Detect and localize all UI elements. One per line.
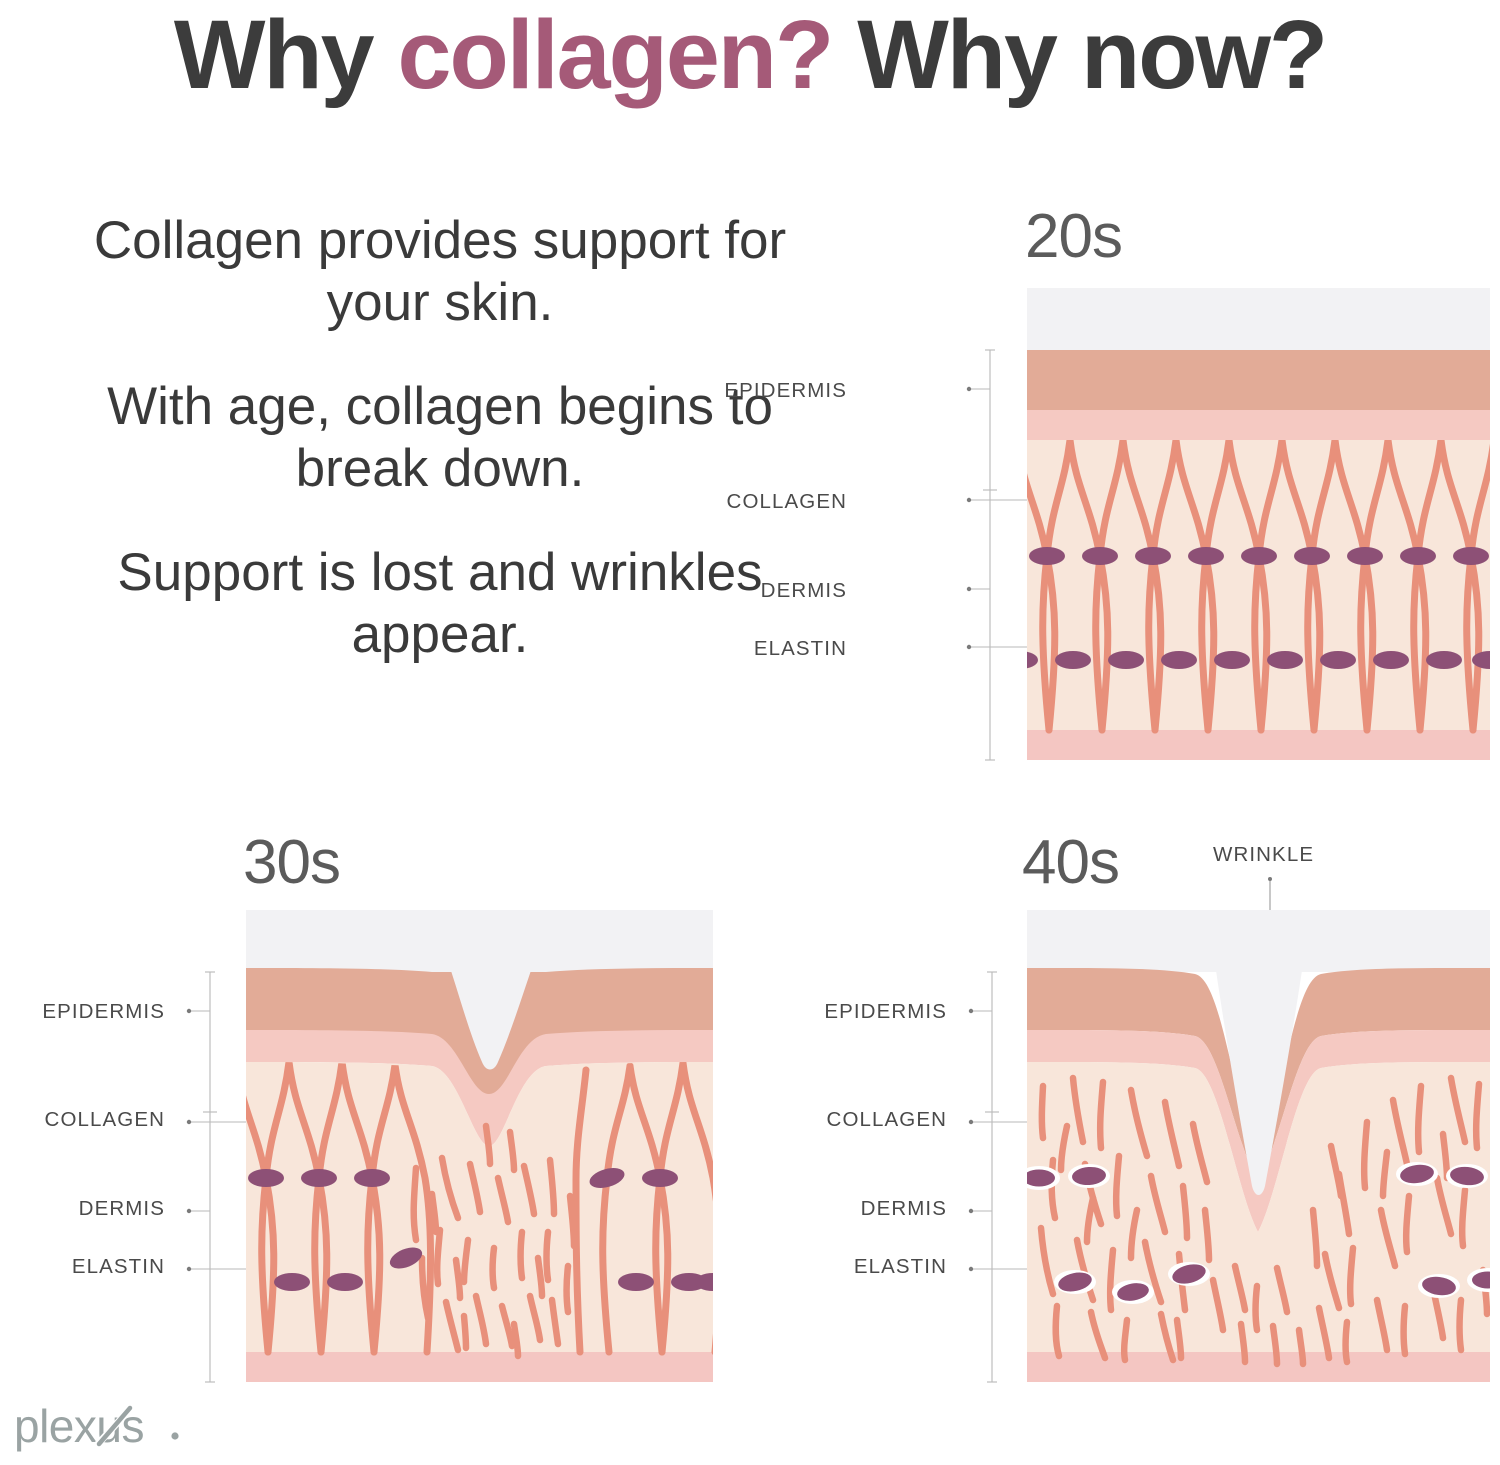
title-part-1: Why	[174, 0, 398, 109]
copy-line-2: With age, collagen begins to break down.	[90, 376, 790, 500]
label-epidermis-30s: EPIDERMIS	[18, 1000, 165, 1024]
panel-title-thirties: 30s	[243, 832, 340, 894]
panel-title-twenties: 20s	[1025, 206, 1122, 268]
panel-title-forties: 40s	[1022, 832, 1119, 894]
intro-copy: Collagen provides support for your skin.…	[90, 210, 790, 666]
label-elastin-30s: ELASTIN	[18, 1255, 165, 1279]
title-accent-word: collagen?	[398, 0, 833, 109]
plexus-logo: plexus	[14, 1398, 204, 1465]
label-elastin-20s: ELASTIN	[700, 637, 847, 661]
label-elastin-40s: ELASTIN	[800, 1255, 947, 1279]
leaders-twenties	[855, 340, 1055, 780]
title-part-2: Why now?	[832, 0, 1326, 109]
label-dermis-40s: DERMIS	[800, 1197, 947, 1221]
label-dermis-30s: DERMIS	[18, 1197, 165, 1221]
copy-line-1: Collagen provides support for your skin.	[90, 210, 790, 334]
label-dermis-20s: DERMIS	[700, 579, 847, 603]
skin-diagram-thirties	[246, 910, 713, 1382]
label-collagen-40s: COLLAGEN	[800, 1108, 947, 1132]
label-collagen-30s: COLLAGEN	[18, 1108, 165, 1132]
label-epidermis-40s: EPIDERMIS	[800, 1000, 947, 1024]
skin-diagram-forties	[1027, 910, 1490, 1382]
label-epidermis-20s: EPIDERMIS	[700, 379, 847, 403]
label-collagen-20s: COLLAGEN	[700, 490, 847, 514]
page-title: Why collagen? Why now?	[0, 4, 1500, 106]
plexus-wordmark: plexus	[14, 1400, 144, 1452]
label-wrinkle-40s: WRINKLE	[1213, 843, 1314, 867]
skin-diagram-twenties	[1027, 288, 1490, 760]
copy-line-3: Support is lost and wrinkles appear.	[90, 542, 790, 666]
